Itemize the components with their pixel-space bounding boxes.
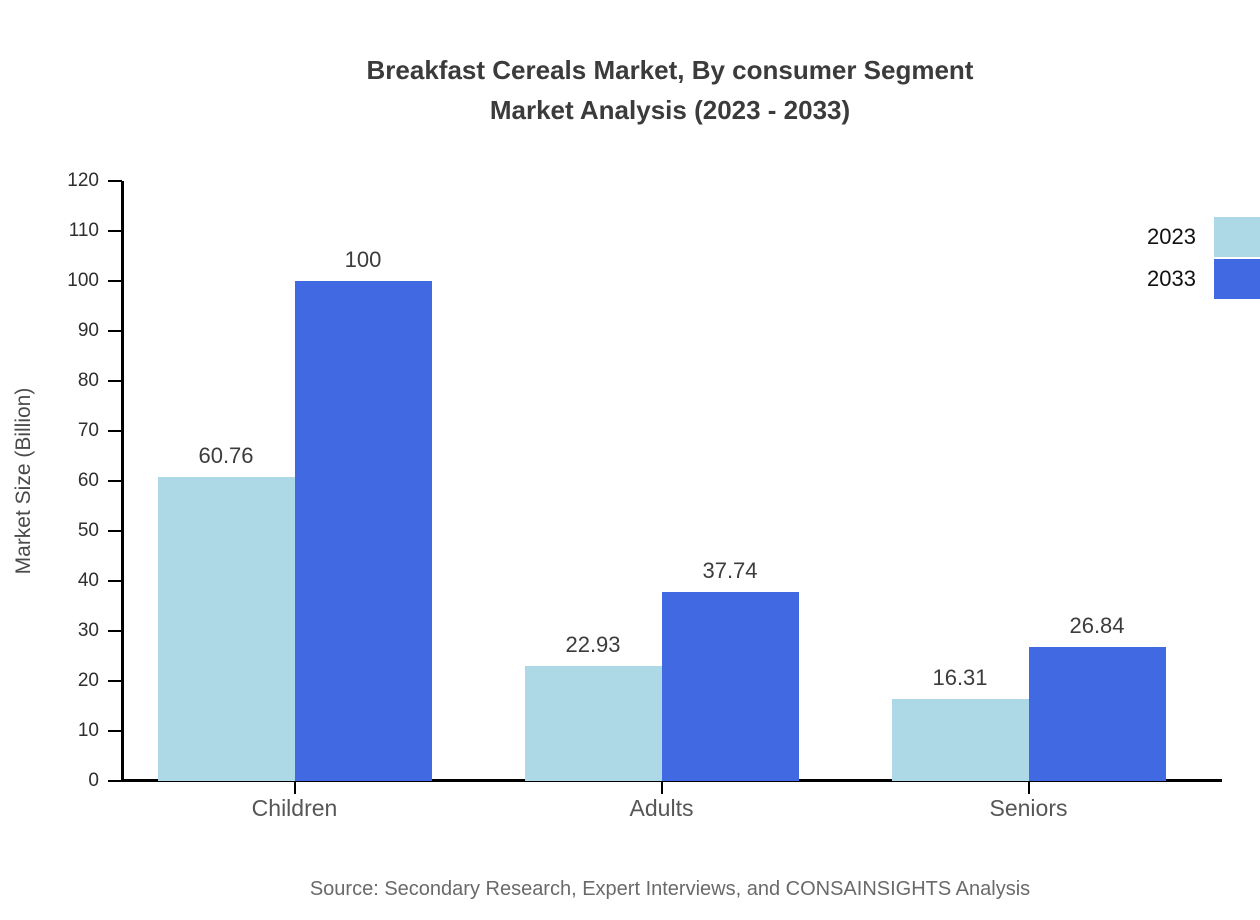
bar-value-label: 100 <box>345 247 382 273</box>
y-axis-tick <box>108 780 122 782</box>
y-axis-tick-label: 30 <box>0 620 99 642</box>
y-axis-tick <box>108 730 122 732</box>
y-axis-tick-label: 50 <box>0 520 99 542</box>
legend-label: 2023 <box>1147 224 1196 250</box>
y-axis-tick <box>108 230 122 232</box>
chart-title-line1: Breakfast Cereals Market, By consumer Se… <box>367 55 974 85</box>
source-note: Source: Secondary Research, Expert Inter… <box>0 878 1260 901</box>
legend-swatch <box>1214 217 1260 257</box>
chart-container: Breakfast Cereals Market, By consumer Se… <box>0 0 1260 920</box>
x-axis-tick <box>294 781 296 794</box>
chart-legend: 20232033 <box>1060 216 1260 300</box>
bar-value-label: 16.31 <box>932 665 987 691</box>
y-axis-tick <box>108 580 122 582</box>
bar-seniors-2023[interactable] <box>892 699 1029 781</box>
y-axis-tick-label: 20 <box>0 670 99 692</box>
y-axis-tick <box>108 330 122 332</box>
y-axis-tick-label: 80 <box>0 370 99 392</box>
bar-adults-2033[interactable] <box>662 592 799 781</box>
y-axis-tick-label: 40 <box>0 570 99 592</box>
x-axis-tick <box>661 781 663 794</box>
y-axis-tick-label: 120 <box>0 170 99 192</box>
y-axis-tick <box>108 530 122 532</box>
x-axis-label-seniors: Seniors <box>990 795 1068 822</box>
y-axis-tick <box>108 680 122 682</box>
bar-children-2033[interactable] <box>295 281 432 781</box>
x-axis-tick <box>1028 781 1030 794</box>
y-axis-tick-label: 10 <box>0 720 99 742</box>
legend-swatch <box>1214 259 1260 299</box>
legend-label: 2033 <box>1147 266 1196 292</box>
y-axis-tick-label: 110 <box>0 220 99 242</box>
y-axis-tick <box>108 630 122 632</box>
y-axis-tick-label: 70 <box>0 420 99 442</box>
y-axis-tick <box>108 380 122 382</box>
bar-value-label: 37.74 <box>702 558 757 584</box>
y-axis-tick <box>108 280 122 282</box>
x-axis-label-children: Children <box>252 795 338 822</box>
bar-children-2023[interactable] <box>158 477 295 781</box>
x-axis-label-adults: Adults <box>630 795 694 822</box>
y-axis-tick <box>108 480 122 482</box>
y-axis-tick-label: 0 <box>0 770 99 792</box>
legend-item-2033[interactable]: 2033 <box>1060 258 1260 300</box>
legend-item-2023[interactable]: 2023 <box>1060 216 1260 258</box>
chart-title-line2: Market Analysis (2023 - 2033) <box>0 90 1260 130</box>
bar-value-label: 22.93 <box>565 632 620 658</box>
y-axis-tick-label: 90 <box>0 320 99 342</box>
bar-value-label: 60.76 <box>198 443 253 469</box>
y-axis-tick <box>108 180 122 182</box>
y-axis-tick <box>108 430 122 432</box>
bar-value-label: 26.84 <box>1069 613 1124 639</box>
chart-title: Breakfast Cereals Market, By consumer Se… <box>0 50 1260 130</box>
y-axis-tick-label: 60 <box>0 470 99 492</box>
bar-adults-2023[interactable] <box>525 666 662 781</box>
bar-seniors-2033[interactable] <box>1029 647 1166 781</box>
y-axis-tick-label: 100 <box>0 270 99 292</box>
